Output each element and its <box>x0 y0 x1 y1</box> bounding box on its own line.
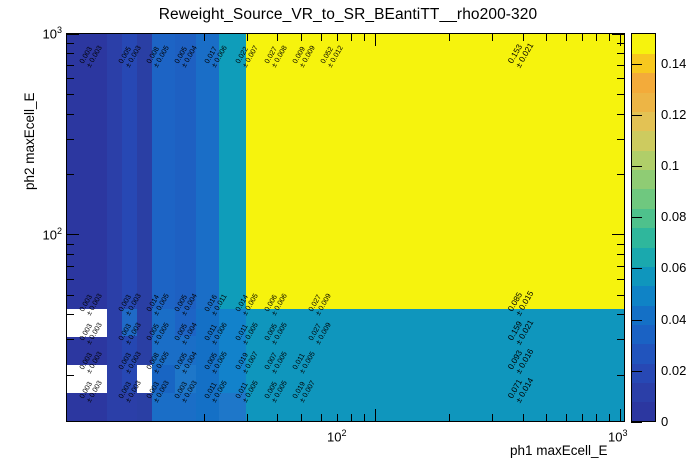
y-axis-tick <box>617 53 624 54</box>
chart-canvas: Reweight_Source_VR_to_SR_BEantiTT__rho20… <box>0 0 696 472</box>
colorbar-segment <box>632 344 655 364</box>
colorbar-segment <box>632 131 655 151</box>
x-axis-tick <box>247 414 248 421</box>
x-axis-tick <box>492 34 493 41</box>
y-axis-tick <box>67 375 74 376</box>
y-axis-tick <box>67 244 74 245</box>
colorbar-tick-label: 0.14 <box>661 56 686 71</box>
x-axis-tick <box>449 34 450 41</box>
x-axis-tick <box>204 34 205 41</box>
colorbar-segment <box>632 228 655 248</box>
y-axis-tick <box>617 174 624 175</box>
colorbar-tick-label: 0.1 <box>661 158 679 173</box>
y-axis-tick <box>612 34 624 35</box>
y-tick-label-100: 102 <box>24 226 62 242</box>
colorbar-tick <box>631 217 642 218</box>
y-axis-tick <box>617 266 624 267</box>
y-axis-tick <box>67 174 74 175</box>
x-axis-tick <box>301 414 302 421</box>
y-axis-tick <box>617 94 624 95</box>
x-axis-tick <box>582 34 583 41</box>
x-axis-tick <box>364 414 365 421</box>
x-axis-tick <box>375 409 376 421</box>
x-axis-tick <box>351 414 352 421</box>
colorbar-segment <box>632 286 655 306</box>
colorbar-segment <box>632 150 655 170</box>
page-title: Reweight_Source_VR_to_SR_BEantiTT__rho20… <box>0 6 696 24</box>
x-axis-tick <box>364 34 365 41</box>
x-axis-tick <box>337 414 338 421</box>
x-axis-tick <box>321 34 322 41</box>
x-axis-tick <box>351 34 352 41</box>
x-axis-tick <box>609 414 610 421</box>
y-tick-label-1000: 103 <box>24 25 62 41</box>
colorbar-tick <box>631 371 642 372</box>
colorbar-segment <box>632 73 655 93</box>
y-axis-tick <box>617 339 624 340</box>
y-axis-tick <box>617 244 624 245</box>
colorbar-tick-label: 0.04 <box>661 312 686 327</box>
x-tick-label-100: 102 <box>327 428 346 444</box>
colorbar-segment <box>632 92 655 112</box>
x-axis-tick <box>204 414 205 421</box>
y-axis-tick <box>67 279 74 280</box>
heatmap-cell <box>246 309 624 337</box>
x-axis-tick <box>609 34 610 41</box>
colorbar-tick <box>631 320 642 321</box>
y-axis-tick <box>617 314 624 315</box>
y-axis-tick <box>617 65 624 66</box>
y-axis-tick <box>67 94 74 95</box>
colorbar-segment <box>632 34 655 54</box>
colorbar-segment <box>632 169 655 189</box>
x-axis-tick <box>582 414 583 421</box>
x-axis-tick <box>492 414 493 421</box>
colorbar-segment <box>632 382 655 402</box>
y-axis-tick <box>67 34 79 35</box>
y-axis-tick <box>67 339 74 340</box>
x-axis-tick <box>523 414 524 421</box>
x-axis-tick <box>375 34 376 46</box>
y-axis-tick <box>617 114 624 115</box>
y-axis-tick <box>67 114 74 115</box>
x-axis-tick <box>566 34 567 41</box>
y-axis-tick <box>67 254 74 255</box>
y-axis-tick <box>67 139 74 140</box>
y-axis-tick <box>612 234 624 235</box>
colorbar-tick <box>631 422 642 423</box>
x-axis-tick <box>546 34 547 41</box>
x-axis-tick <box>337 34 338 41</box>
y-axis-tick <box>617 139 624 140</box>
y-axis-tick <box>67 234 79 235</box>
x-axis-tick <box>620 409 621 421</box>
y-axis-tick <box>617 254 624 255</box>
colorbar-tick-label: 0.02 <box>661 363 686 378</box>
colorbar-segment <box>632 189 655 209</box>
x-axis-tick <box>546 414 547 421</box>
x-axis-tick <box>277 414 278 421</box>
colorbar-tick-label: 0 <box>661 414 668 429</box>
colorbar-segment <box>632 324 655 344</box>
y-axis-tick <box>617 375 624 376</box>
y-axis-tick <box>67 78 74 79</box>
x-axis-tick <box>449 414 450 421</box>
x-axis-tick <box>596 34 597 41</box>
y-axis-tick <box>67 53 74 54</box>
colorbar-segment <box>632 402 655 422</box>
y-axis-tick <box>67 314 74 315</box>
colorbar-tick-label: 0.08 <box>661 209 686 224</box>
y-axis-tick <box>67 295 74 296</box>
colorbar-tick-label: 0.12 <box>661 107 686 122</box>
x-axis-tick <box>566 414 567 421</box>
colorbar-segment <box>632 247 655 267</box>
y-axis-tick <box>617 295 624 296</box>
x-axis-title: ph1 maxEcell_E <box>510 443 608 458</box>
y-axis-tick <box>67 266 74 267</box>
y-axis-tick <box>617 78 624 79</box>
x-tick-label-1000: 103 <box>608 428 627 444</box>
y-axis-tick <box>67 65 74 66</box>
y-axis-tick <box>67 43 74 44</box>
colorbar[interactable] <box>631 33 656 422</box>
x-axis-tick <box>277 34 278 41</box>
colorbar-tick <box>631 115 642 116</box>
heatmap-plot-area[interactable]: 0.003± 0.0030.005± 0.0030.008± 0.0050.00… <box>66 33 625 422</box>
colorbar-segment <box>632 305 655 325</box>
x-axis-tick <box>596 414 597 421</box>
colorbar-tick <box>631 166 642 167</box>
colorbar-tick <box>631 64 642 65</box>
x-axis-tick <box>620 34 621 46</box>
colorbar-tick-label: 0.06 <box>661 260 686 275</box>
x-axis-tick <box>321 414 322 421</box>
y-axis-title: ph2 maxEcell_E <box>22 92 37 190</box>
colorbar-segment <box>632 363 655 383</box>
colorbar-tick <box>631 268 642 269</box>
y-axis-tick <box>617 279 624 280</box>
